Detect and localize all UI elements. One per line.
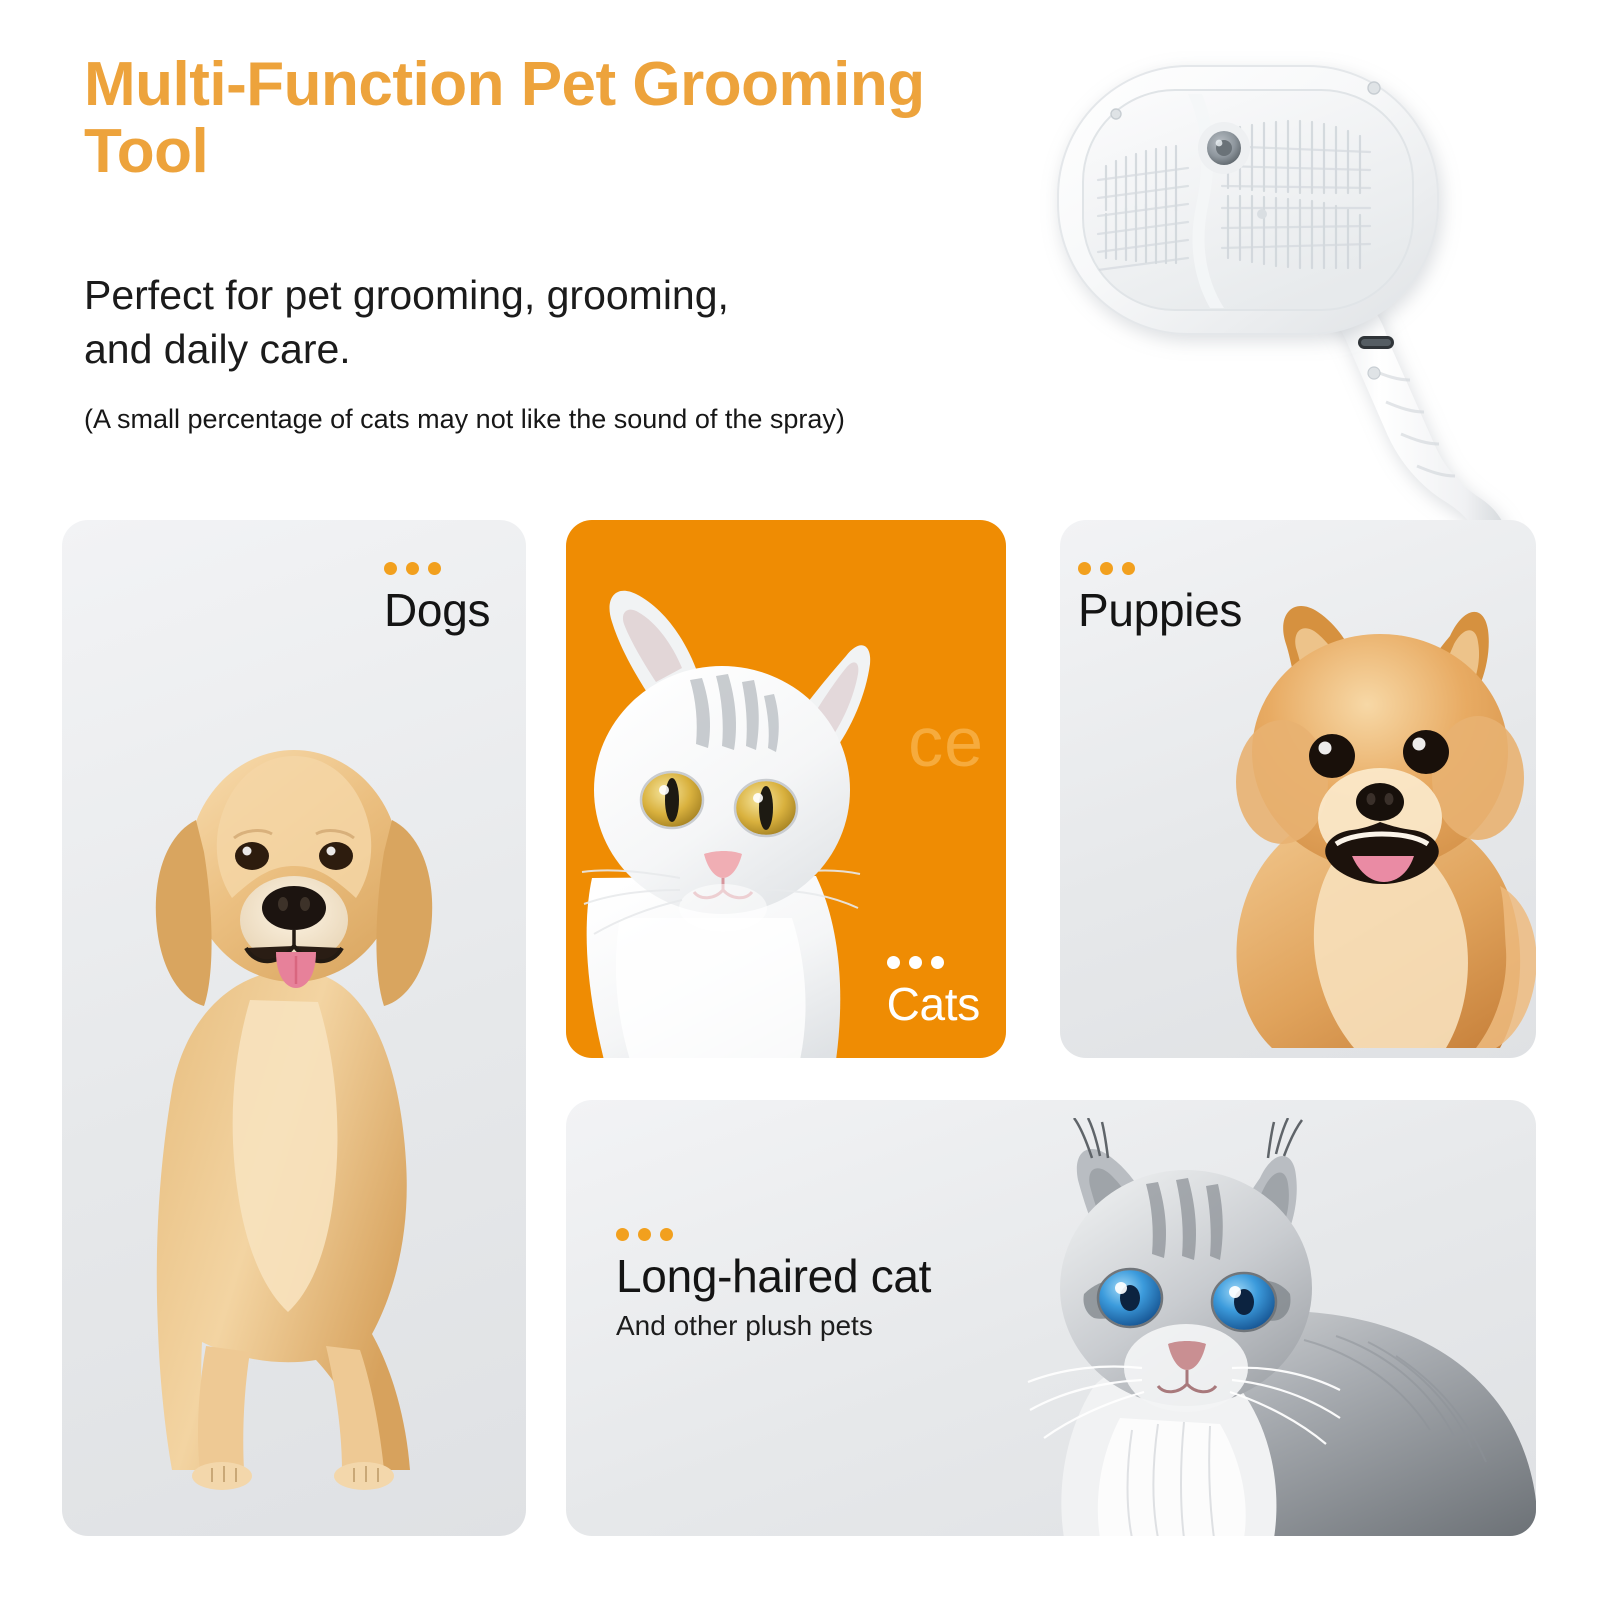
- subheadline: Perfect for pet grooming, grooming, and …: [84, 268, 784, 376]
- card-dogs-title: Dogs: [384, 586, 490, 634]
- watermark-text: ce: [908, 702, 984, 782]
- card-long-haired-cat-title: Long-haired cat: [616, 1252, 931, 1300]
- card-long-haired-cat-label: Long-haired cat And other plush pets: [616, 1228, 931, 1342]
- dots-decoration-icon: [384, 562, 490, 575]
- product-infographic: Multi-Function Pet Grooming Tool Perfect…: [0, 0, 1600, 1600]
- card-dogs[interactable]: Dogs: [62, 520, 526, 1536]
- card-puppies[interactable]: Puppies: [1060, 520, 1536, 1058]
- disclaimer-text: (A small percentage of cats may not like…: [84, 402, 1084, 437]
- card-puppies-label: Puppies: [1078, 562, 1242, 634]
- card-dogs-label: Dogs: [384, 562, 490, 634]
- product-image-grooming-brush: [1028, 18, 1588, 578]
- card-puppies-title: Puppies: [1078, 586, 1242, 634]
- dots-decoration-icon: [616, 1228, 931, 1241]
- pomeranian-puppy-illustration: [1200, 556, 1536, 1058]
- card-long-haired-cat-subtitle: And other plush pets: [616, 1310, 931, 1342]
- card-cats-title: Cats: [887, 980, 980, 1028]
- page-title: Multi-Function Pet Grooming Tool: [84, 52, 1044, 186]
- white-tabby-cat-illustration: [566, 578, 890, 1058]
- dots-decoration-icon: [887, 956, 980, 969]
- card-long-haired-cat[interactable]: Long-haired cat And other plush pets: [566, 1100, 1536, 1536]
- card-cats-label: Cats: [887, 956, 980, 1028]
- golden-retriever-illustration: [80, 670, 510, 1536]
- dots-decoration-icon: [1078, 562, 1242, 575]
- card-cats[interactable]: ce: [566, 520, 1006, 1058]
- maine-coon-cat-illustration: [944, 1118, 1536, 1536]
